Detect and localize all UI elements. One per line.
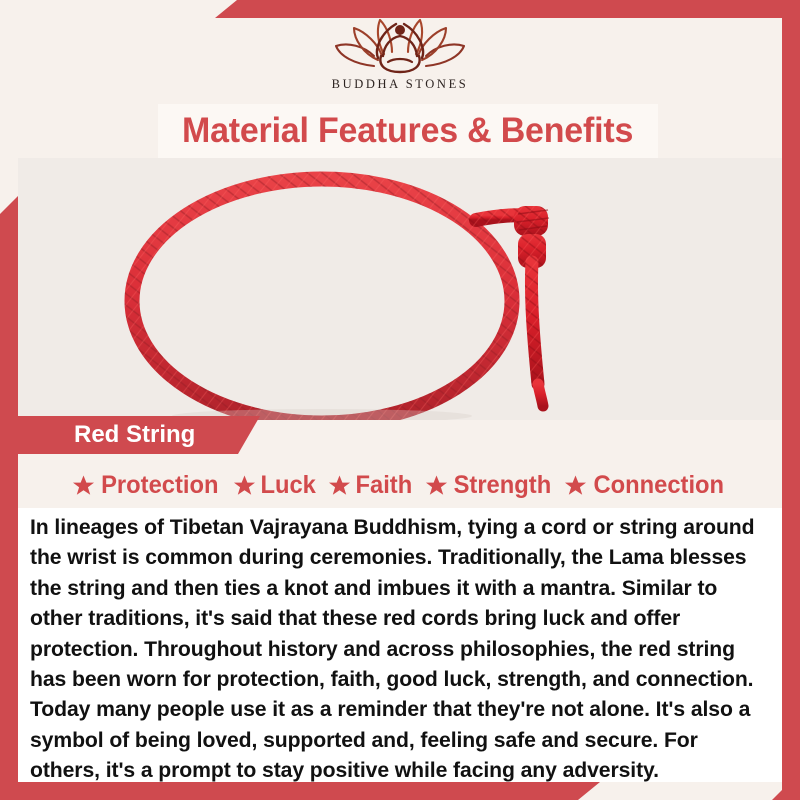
red-braided-bracelet-image xyxy=(18,158,782,420)
product-label-banner: Red String xyxy=(18,416,260,454)
description-panel: In lineages of Tibetan Vajrayana Buddhis… xyxy=(18,508,782,782)
features-row: Protection Luck Faith Strength Connectio… xyxy=(18,466,782,504)
feature-luck: Luck xyxy=(233,471,317,500)
decorative-band-right xyxy=(782,0,800,800)
brand-name: BUDDHA STONES xyxy=(332,77,469,92)
star-icon xyxy=(564,474,587,497)
title-banner: Material Features & Benefits xyxy=(158,104,658,158)
star-icon xyxy=(328,474,351,497)
star-icon xyxy=(72,474,95,497)
decorative-band-left xyxy=(0,196,18,782)
brand-header: BUDDHA STONES xyxy=(0,14,800,100)
feature-strength: Strength xyxy=(425,471,554,500)
feature-label: Connection xyxy=(594,471,725,500)
product-label-text: Red String xyxy=(18,421,195,449)
product-photo xyxy=(18,158,782,420)
page-title: Material Features & Benefits xyxy=(182,111,633,151)
star-icon xyxy=(425,474,448,497)
star-icon xyxy=(233,474,256,497)
feature-faith: Faith xyxy=(328,471,414,500)
feature-protection: Protection xyxy=(72,471,222,500)
feature-connection: Connection xyxy=(564,471,728,500)
feature-label: Strength xyxy=(453,471,551,500)
description-text: In lineages of Tibetan Vajrayana Buddhis… xyxy=(30,512,755,786)
feature-label: Faith xyxy=(355,471,412,500)
lotus-meditation-icon xyxy=(334,14,466,76)
feature-label: Luck xyxy=(260,471,315,500)
feature-label: Protection xyxy=(101,471,218,500)
